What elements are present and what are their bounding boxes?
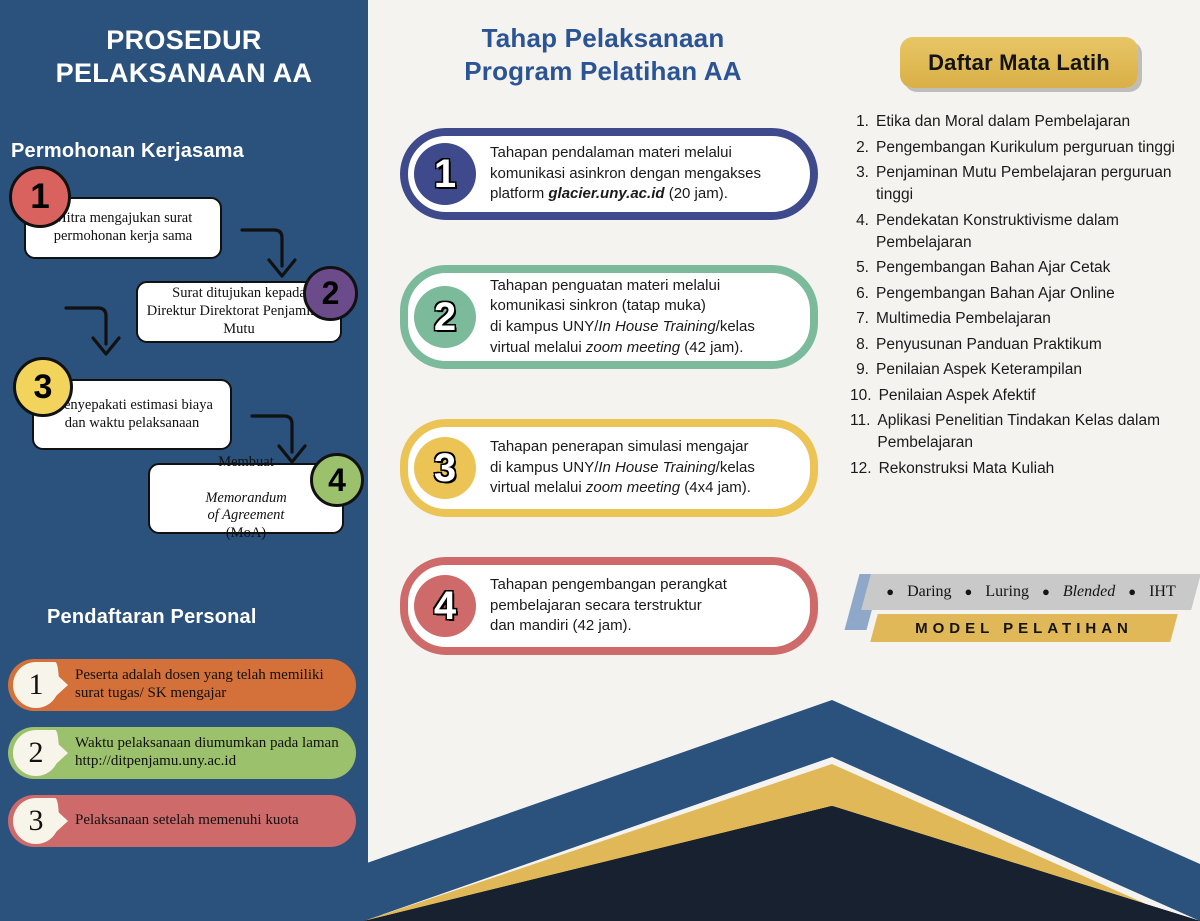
stage-2-line4-pre: virtual melalui: [490, 339, 586, 356]
stage-1-platform: glacier.uny.ac.id: [548, 185, 664, 202]
list-item-number: 7.: [850, 308, 876, 330]
bullet-icon: ●: [1042, 584, 1050, 600]
right-column: Daftar Mata Latih 1. Etika dan Moral dal…: [838, 0, 1200, 921]
page-title: PROSEDUR PELAKSANAAN AA: [0, 24, 368, 90]
registration-text-3: Pelaksanaan setelah memenuhi kuota: [59, 812, 356, 830]
list-item-label: Pendekatan Konstruktivisme dalam Pembela…: [876, 210, 1198, 254]
model-type-daring: Daring: [907, 583, 951, 601]
list-item: 12. Rekonstruksi Mata Kuliah: [850, 458, 1198, 480]
list-item-number: 11.: [850, 410, 877, 454]
mata-latih-list: 1. Etika dan Moral dalam Pembelajaran 2.…: [850, 111, 1198, 483]
list-item-label: Penilaian Aspek Afektif: [879, 385, 1198, 407]
stage-3-line2-post: /kelas: [716, 459, 755, 476]
stage-2-line3-post: /kelas: [716, 318, 755, 335]
list-item-label: Etika dan Moral dalam Pembelajaran: [876, 111, 1198, 133]
stage-text-1: Tahapan pendalaman materi melalui komuni…: [476, 143, 810, 205]
list-item: 9. Penilaian Aspek Keterampilan: [850, 359, 1198, 381]
list-item-number: 6.: [850, 283, 876, 305]
list-item-label: Penyusunan Panduan Praktikum: [876, 334, 1198, 356]
list-item: 6. Pengembangan Bahan Ajar Online: [850, 283, 1198, 305]
registration-text-1: Peserta adalah dosen yang telah memiliki…: [59, 667, 356, 702]
bullet-icon: ●: [965, 584, 973, 600]
center-column: Tahap Pelaksanaan Program Pelatihan AA 1…: [368, 0, 838, 921]
stage-text-2: Tahapan penguatan materi melalui komunik…: [476, 276, 810, 359]
flow-box-4-line4: (MoA): [205, 525, 286, 543]
stage-4-line2: pembelajaran secara terstruktur: [490, 597, 702, 614]
stage-2-line4-post: (42 jam).: [680, 339, 743, 356]
list-item-label: Aplikasi Penelitian Tindakan Kelas dalam…: [877, 410, 1198, 454]
list-item-label: Pengembangan Kurikulum perguruan tinggi: [876, 137, 1198, 159]
list-item-label: Rekonstruksi Mata Kuliah: [879, 458, 1198, 480]
model-types-bar: ● Daring ● Luring ● Blended ● IHT: [861, 574, 1200, 610]
stage-3-line1: Tahapan penerapan simulasi mengajar: [490, 438, 749, 455]
stage-3-line2-pre: di kampus UNY/: [490, 459, 598, 476]
flow-box-4-line2: Memorandum: [205, 490, 286, 506]
bullet-icon: ●: [1128, 584, 1136, 600]
model-pelatihan-banner: ● Daring ● Luring ● Blended ● IHT MODEL …: [852, 572, 1200, 652]
page-title-line1: PROSEDUR: [0, 24, 368, 57]
registration-badge-2: 2: [13, 730, 59, 776]
stage-3-line3-pre: virtual melalui: [490, 479, 586, 496]
registration-item-3: 3 Pelaksanaan setelah memenuhi kuota: [8, 795, 356, 847]
stage-2-line3-em: In House Training: [598, 318, 715, 335]
flow-badge-4: 4: [310, 453, 364, 507]
flow-badge-3: 3: [13, 357, 73, 417]
infographic-root: PROSEDUR PELAKSANAAN AA Permohonan Kerja…: [0, 0, 1200, 921]
list-item: 10. Penilaian Aspek Afektif: [850, 385, 1198, 407]
list-item-label: Penjaminan Mutu Pembelajaran perguruan t…: [876, 162, 1198, 206]
section-heading-pendaftaran: Pendaftaran Personal: [47, 606, 257, 629]
stage-2-line2: komunikasi sinkron (tatap muka): [490, 297, 706, 314]
flow-badge-2: 2: [303, 266, 358, 321]
list-item-label: Pengembangan Bahan Ajar Cetak: [876, 257, 1198, 279]
list-item: 1. Etika dan Moral dalam Pembelajaran: [850, 111, 1198, 133]
registration-badge-1: 1: [13, 662, 59, 708]
flow-badge-1: 1: [9, 166, 71, 228]
stage-2-line3-pre: di kampus UNY/: [490, 318, 598, 335]
list-item-label: Pengembangan Bahan Ajar Online: [876, 283, 1198, 305]
model-type-iht: IHT: [1149, 583, 1176, 601]
list-item-number: 10.: [850, 385, 879, 407]
stage-text-4: Tahapan pengembangan perangkat pembelaja…: [476, 575, 810, 637]
list-item: 11. Aplikasi Penelitian Tindakan Kelas d…: [850, 410, 1198, 454]
center-title: Tahap Pelaksanaan Program Pelatihan AA: [368, 22, 838, 87]
page-title-line2: PELAKSANAAN AA: [0, 57, 368, 90]
flow-box-4-line3: of Agreement: [208, 507, 285, 523]
list-item-number: 5.: [850, 257, 876, 279]
center-title-line2: Program Pelatihan AA: [368, 55, 838, 88]
stage-2-line1: Tahapan penguatan materi melalui: [490, 277, 720, 294]
list-item: 4. Pendekatan Konstruktivisme dalam Pemb…: [850, 210, 1198, 254]
list-item-number: 1.: [850, 111, 876, 133]
list-item: 7. Multimedia Pembelajaran: [850, 308, 1198, 330]
stage-1: 1 Tahapan pendalaman materi melalui komu…: [400, 128, 818, 220]
registration-text-2: Waktu pelaksanaan diumumkan pada laman h…: [59, 735, 356, 770]
model-type-blended: Blended: [1063, 583, 1115, 601]
stage-4-line3: dan mandiri (42 jam).: [490, 617, 632, 634]
section-heading-permohonan: Permohonan Kerjasama: [11, 140, 244, 163]
stage-3-line3-em: zoom meeting: [586, 479, 680, 496]
stage-badge-2: 2: [414, 286, 476, 348]
list-item-label: Multimedia Pembelajaran: [876, 308, 1198, 330]
stage-badge-4: 4: [414, 575, 476, 637]
list-item-number: 3.: [850, 162, 876, 206]
stage-1-text-post: (20 jam).: [665, 185, 728, 202]
stage-2-line4-em: zoom meeting: [586, 339, 680, 356]
bullet-icon: ●: [886, 584, 894, 600]
stage-3-line3-post: (4x4 jam).: [680, 479, 751, 496]
stage-3-line2-em: In House Training: [598, 459, 715, 476]
registration-item-1: 1 Peserta adalah dosen yang telah memili…: [8, 659, 356, 711]
list-item-number: 8.: [850, 334, 876, 356]
list-item: 2. Pengembangan Kurikulum perguruan ting…: [850, 137, 1198, 159]
stage-badge-1: 1: [414, 143, 476, 205]
list-item-number: 4.: [850, 210, 876, 254]
left-panel: PROSEDUR PELAKSANAAN AA Permohonan Kerja…: [0, 0, 368, 921]
stage-text-3: Tahapan penerapan simulasi mengajar di k…: [476, 437, 810, 499]
flow-arrow-2: [60, 300, 170, 362]
list-item: 5. Pengembangan Bahan Ajar Cetak: [850, 257, 1198, 279]
registration-badge-3: 3: [13, 798, 59, 844]
list-item: 3. Penjaminan Mutu Pembelajaran pergurua…: [850, 162, 1198, 206]
list-item-number: 9.: [850, 359, 876, 381]
list-item-label: Penilaian Aspek Keterampilan: [876, 359, 1198, 381]
stage-2: 2 Tahapan penguatan materi melalui komun…: [400, 265, 818, 369]
list-item-number: 12.: [850, 458, 879, 480]
registration-item-2: 2 Waktu pelaksanaan diumumkan pada laman…: [8, 727, 356, 779]
stage-4-line1: Tahapan pengembangan perangkat: [490, 576, 727, 593]
list-item-number: 2.: [850, 137, 876, 159]
model-type-luring: Luring: [985, 583, 1029, 601]
stage-badge-3: 3: [414, 437, 476, 499]
stage-4: 4 Tahapan pengembangan perangkat pembela…: [400, 557, 818, 655]
center-title-line1: Tahap Pelaksanaan: [368, 22, 838, 55]
model-label-bar: MODEL PELATIHAN: [870, 614, 1178, 642]
daftar-mata-latih-title: Daftar Mata Latih: [900, 37, 1138, 88]
stage-3: 3 Tahapan penerapan simulasi mengajar di…: [400, 419, 818, 517]
model-label-text: MODEL PELATIHAN: [874, 614, 1174, 642]
list-item: 8. Penyusunan Panduan Praktikum: [850, 334, 1198, 356]
